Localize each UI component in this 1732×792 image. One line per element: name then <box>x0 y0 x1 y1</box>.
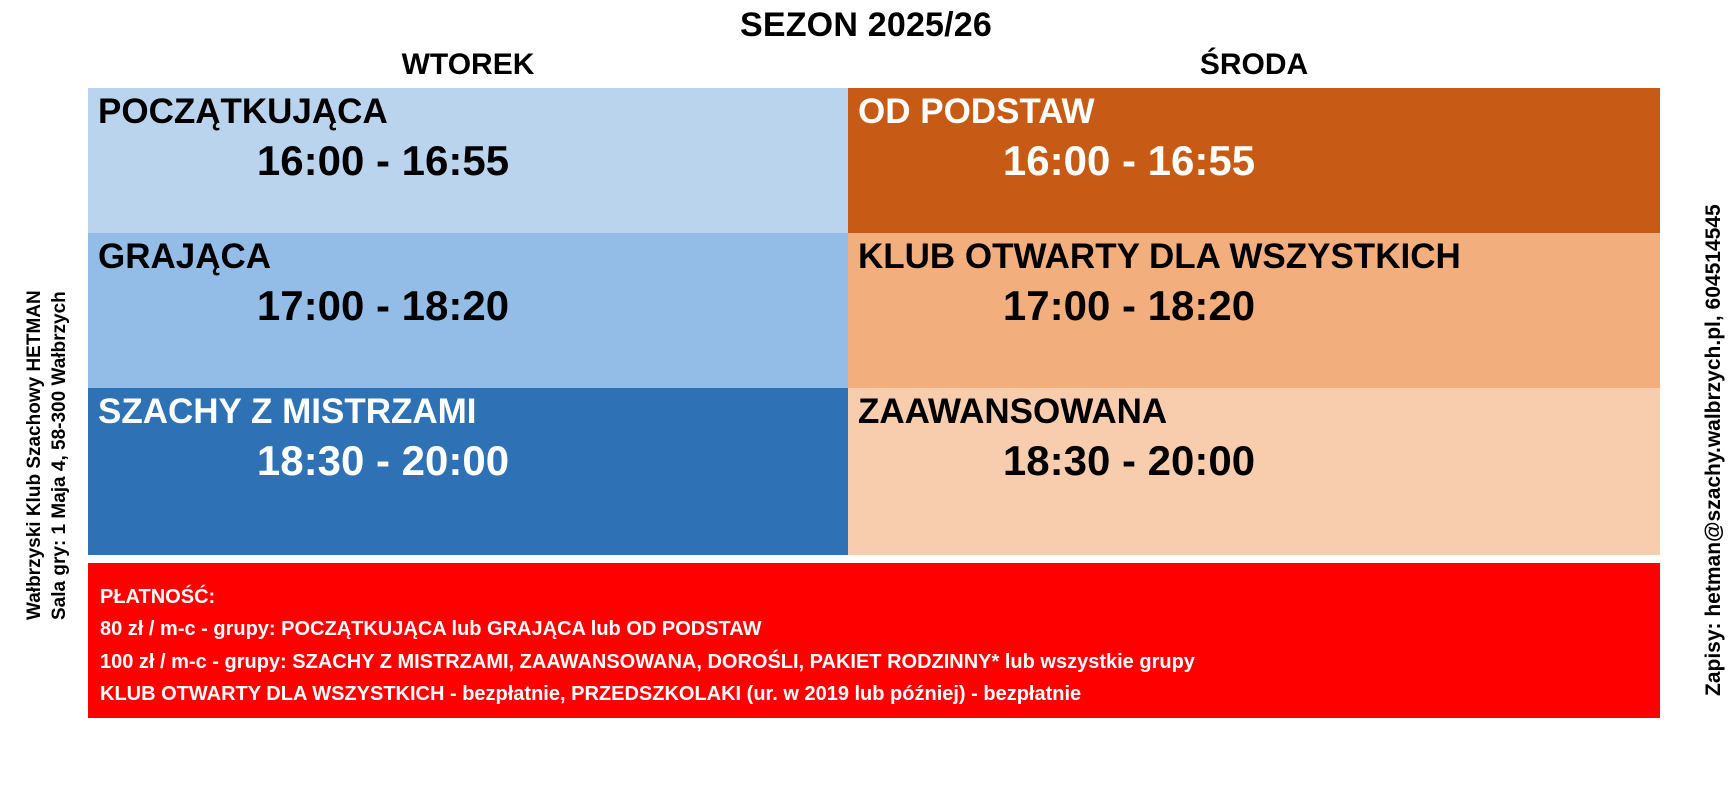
club-name: Wałbrzyski Klub Szachowy HETMAN <box>22 140 47 620</box>
payment-line-1: 80 zł / m-c - grupy: POCZĄTKUJĄCA lub GR… <box>100 613 1660 645</box>
time-range: 17:00 - 18:20 <box>98 282 838 330</box>
time-range: 18:30 - 20:00 <box>858 437 1650 485</box>
club-address-caption: Wałbrzyski Klub Szachowy HETMAN Sala gry… <box>22 140 72 620</box>
club-address: Sala gry: 1 Maja 4, 58-300 Wałbrzych <box>47 140 72 620</box>
schedule-cell-tuesday-2: GRAJĄCA 17:00 - 18:20 <box>88 233 848 388</box>
schedule-poster: SEZON 2025/26 WTOREK ŚRODA Wałbrzyski Kl… <box>0 0 1732 792</box>
day-header-wednesday: ŚRODA <box>848 48 1660 82</box>
page-title: SEZON 2025/26 <box>0 6 1732 45</box>
contact-caption: Zapisy: hetman@szachy.walbrzych.pl, 6045… <box>1702 96 1726 696</box>
schedule-cell-wednesday-3: ZAAWANSOWANA 18:30 - 20:00 <box>848 388 1660 555</box>
payment-info-box: PŁATNOŚĆ: 80 zł / m-c - grupy: POCZĄTKUJ… <box>88 563 1660 718</box>
schedule-cell-tuesday-1: POCZĄTKUJĄCA 16:00 - 16:55 <box>88 88 848 233</box>
schedule-cell-tuesday-3: SZACHY Z MISTRZAMI 18:30 - 20:00 <box>88 388 848 555</box>
group-name: GRAJĄCA <box>98 237 838 276</box>
payment-line-2: 100 zł / m-c - grupy: SZACHY Z MISTRZAMI… <box>100 646 1660 678</box>
group-name: KLUB OTWARTY DLA WSZYSTKICH <box>858 237 1650 276</box>
time-range: 17:00 - 18:20 <box>858 282 1650 330</box>
payment-line-3: KLUB OTWARTY DLA WSZYSTKICH - bezpłatnie… <box>100 678 1660 710</box>
time-range: 16:00 - 16:55 <box>98 137 838 185</box>
time-range: 18:30 - 20:00 <box>98 437 838 485</box>
group-name: SZACHY Z MISTRZAMI <box>98 392 838 431</box>
group-name: ZAAWANSOWANA <box>858 392 1650 431</box>
group-name: OD PODSTAW <box>858 92 1650 131</box>
group-name: POCZĄTKUJĄCA <box>98 92 838 131</box>
schedule-cell-wednesday-1: OD PODSTAW 16:00 - 16:55 <box>848 88 1660 233</box>
schedule-grid: POCZĄTKUJĄCA 16:00 - 16:55 OD PODSTAW 16… <box>88 88 1660 555</box>
schedule-cell-wednesday-2: KLUB OTWARTY DLA WSZYSTKICH 17:00 - 18:2… <box>848 233 1660 388</box>
day-header-tuesday: WTOREK <box>88 48 848 82</box>
payment-heading: PŁATNOŚĆ: <box>100 581 1660 613</box>
time-range: 16:00 - 16:55 <box>858 137 1650 185</box>
